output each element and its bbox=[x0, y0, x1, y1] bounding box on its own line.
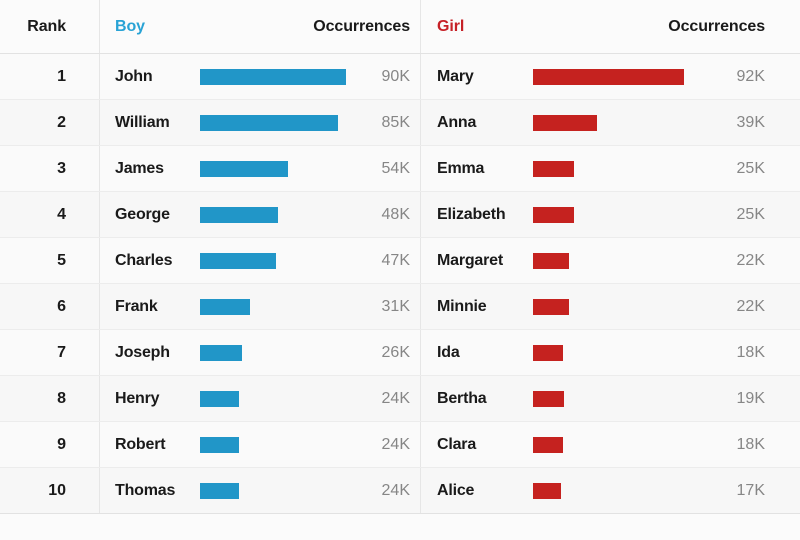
boy-name: Robert bbox=[115, 436, 165, 454]
girl-bar-cell bbox=[533, 330, 723, 375]
boy-name: Charles bbox=[115, 252, 172, 270]
boy-occurrences-cell: 24K bbox=[355, 482, 420, 500]
girl-occurrences-value: 25K bbox=[737, 160, 765, 177]
rank-cell: 4 bbox=[0, 206, 99, 224]
girl-name-cell: Ida bbox=[420, 330, 533, 375]
boy-bar-cell bbox=[200, 422, 355, 467]
girl-occurrences-value: 17K bbox=[737, 482, 765, 499]
boy-occurrences-value: 85K bbox=[382, 114, 410, 131]
rank-value: 9 bbox=[57, 436, 66, 453]
boy-bar-cell bbox=[200, 238, 355, 283]
boy-bar bbox=[200, 299, 250, 315]
girl-bar bbox=[533, 483, 561, 499]
column-header-rank: Rank bbox=[27, 18, 66, 35]
boy-occurrences-value: 31K bbox=[382, 298, 410, 315]
boy-bar bbox=[200, 69, 346, 85]
rank-value: 4 bbox=[57, 206, 66, 223]
girl-bar bbox=[533, 161, 574, 177]
boy-name-cell: Frank bbox=[99, 284, 200, 329]
boy-occurrences-cell: 54K bbox=[355, 160, 420, 178]
girl-name-cell: Minnie bbox=[420, 284, 533, 329]
table-row: 2William85KAnna39K bbox=[0, 100, 800, 146]
boy-bar bbox=[200, 483, 239, 499]
girl-occurrences-value: 18K bbox=[737, 344, 765, 361]
girl-name: Mary bbox=[437, 68, 474, 86]
girl-occurrences-value: 39K bbox=[737, 114, 765, 131]
column-header-boy-occurrences-cell: Occurrences bbox=[200, 18, 420, 36]
girl-occurrences-cell: 18K bbox=[723, 436, 800, 454]
boy-occurrences-value: 48K bbox=[382, 206, 410, 223]
boy-bar-cell bbox=[200, 468, 355, 513]
boy-occurrences-value: 90K bbox=[382, 68, 410, 85]
girl-occurrences-cell: 18K bbox=[723, 344, 800, 362]
boy-occurrences-cell: 85K bbox=[355, 114, 420, 132]
girl-name: Elizabeth bbox=[437, 206, 505, 224]
boy-name-cell: James bbox=[99, 146, 200, 191]
girl-name-cell: Anna bbox=[420, 100, 533, 145]
boy-bar-cell bbox=[200, 146, 355, 191]
rank-cell: 1 bbox=[0, 68, 99, 86]
girl-bar bbox=[533, 207, 574, 223]
boy-bar bbox=[200, 253, 276, 269]
table-row: 6Frank31KMinnie22K bbox=[0, 284, 800, 330]
girl-occurrences-value: 22K bbox=[737, 252, 765, 269]
table-row: 1John90KMary92K bbox=[0, 54, 800, 100]
boy-bar bbox=[200, 115, 338, 131]
girl-name: Anna bbox=[437, 114, 476, 132]
girl-name-cell: Mary bbox=[420, 54, 533, 99]
girl-name: Bertha bbox=[437, 390, 486, 408]
girl-name-cell: Elizabeth bbox=[420, 192, 533, 237]
boy-bar-cell bbox=[200, 330, 355, 375]
girl-occurrences-cell: 25K bbox=[723, 160, 800, 178]
rank-value: 3 bbox=[57, 160, 66, 177]
boy-occurrences-cell: 31K bbox=[355, 298, 420, 316]
girl-bar bbox=[533, 69, 684, 85]
boy-name: Henry bbox=[115, 390, 159, 408]
rank-value: 6 bbox=[57, 298, 66, 315]
table-row: 9Robert24KClara18K bbox=[0, 422, 800, 468]
girl-bar-cell bbox=[533, 284, 723, 329]
girl-occurrences-value: 92K bbox=[737, 68, 765, 85]
rank-cell: 2 bbox=[0, 114, 99, 132]
girl-bar bbox=[533, 115, 597, 131]
girl-occurrences-cell: 22K bbox=[723, 298, 800, 316]
boy-bar-cell bbox=[200, 54, 355, 99]
girl-bar bbox=[533, 391, 564, 407]
girl-occurrences-cell: 22K bbox=[723, 252, 800, 270]
table-row: 8Henry24KBertha19K bbox=[0, 376, 800, 422]
boy-name: William bbox=[115, 114, 169, 132]
girl-bar bbox=[533, 345, 563, 361]
girl-bar-cell bbox=[533, 422, 723, 467]
column-header-boy: Boy bbox=[115, 18, 145, 36]
rank-cell: 6 bbox=[0, 298, 99, 316]
girl-name-cell: Bertha bbox=[420, 376, 533, 421]
boy-bar bbox=[200, 161, 288, 177]
girl-name: Emma bbox=[437, 160, 484, 178]
girl-bar bbox=[533, 253, 569, 269]
rank-value: 1 bbox=[57, 68, 66, 85]
rank-value: 2 bbox=[57, 114, 66, 131]
table-body: 1John90KMary92K2William85KAnna39K3James5… bbox=[0, 54, 800, 514]
boy-occurrences-cell: 48K bbox=[355, 206, 420, 224]
boy-occurrences-value: 24K bbox=[382, 436, 410, 453]
table-row: 3James54KEmma25K bbox=[0, 146, 800, 192]
boy-occurrences-cell: 26K bbox=[355, 344, 420, 362]
boy-bar bbox=[200, 391, 239, 407]
boy-occurrences-cell: 24K bbox=[355, 390, 420, 408]
girl-name-cell: Clara bbox=[420, 422, 533, 467]
girl-occurrences-cell: 17K bbox=[723, 482, 800, 500]
girl-name: Ida bbox=[437, 344, 460, 362]
girl-bar-cell bbox=[533, 376, 723, 421]
girl-name-cell: Margaret bbox=[420, 238, 533, 283]
girl-bar bbox=[533, 437, 563, 453]
boy-bar-cell bbox=[200, 284, 355, 329]
column-header-girl-occurrences-cell: Occurrences bbox=[533, 18, 800, 36]
column-header-girl-cell: Girl bbox=[420, 0, 533, 53]
column-header-girl-occurrences: Occurrences bbox=[668, 18, 765, 36]
boy-name-cell: Charles bbox=[99, 238, 200, 283]
rank-value: 7 bbox=[57, 344, 66, 361]
boy-occurrences-value: 26K bbox=[382, 344, 410, 361]
boy-bar-cell bbox=[200, 100, 355, 145]
table-row: 5Charles47KMargaret22K bbox=[0, 238, 800, 284]
girl-name: Clara bbox=[437, 436, 476, 454]
boy-name: Frank bbox=[115, 298, 158, 316]
boy-name: George bbox=[115, 206, 170, 224]
boy-name-cell: George bbox=[99, 192, 200, 237]
boy-occurrences-value: 47K bbox=[382, 252, 410, 269]
boy-name-cell: Joseph bbox=[99, 330, 200, 375]
rank-value: 5 bbox=[57, 252, 66, 269]
girl-bar-cell bbox=[533, 146, 723, 191]
boy-bar-cell bbox=[200, 192, 355, 237]
boy-bar bbox=[200, 437, 239, 453]
boy-bar bbox=[200, 345, 242, 361]
rank-cell: 8 bbox=[0, 390, 99, 408]
rank-cell: 3 bbox=[0, 160, 99, 178]
girl-bar bbox=[533, 299, 569, 315]
girl-occurrences-value: 22K bbox=[737, 298, 765, 315]
girl-occurrences-cell: 25K bbox=[723, 206, 800, 224]
column-header-rank-cell: Rank bbox=[0, 18, 99, 36]
girl-occurrences-cell: 92K bbox=[723, 68, 800, 86]
girl-name: Margaret bbox=[437, 252, 503, 270]
table-row: 10Thomas24KAlice17K bbox=[0, 468, 800, 514]
boy-name: John bbox=[115, 68, 152, 86]
boy-bar-cell bbox=[200, 376, 355, 421]
girl-bar-cell bbox=[533, 100, 723, 145]
girl-name-cell: Emma bbox=[420, 146, 533, 191]
girl-occurrences-value: 19K bbox=[737, 390, 765, 407]
baby-names-ranking-table: Rank Boy Occurrences Girl Occurrences 1J… bbox=[0, 0, 800, 514]
boy-name: Thomas bbox=[115, 482, 175, 500]
girl-bar-cell bbox=[533, 192, 723, 237]
column-header-boy-cell: Boy bbox=[99, 0, 200, 53]
girl-bar-cell bbox=[533, 54, 723, 99]
table-row: 7Joseph26KIda18K bbox=[0, 330, 800, 376]
girl-name: Minnie bbox=[437, 298, 486, 316]
rank-cell: 7 bbox=[0, 344, 99, 362]
boy-name: Joseph bbox=[115, 344, 170, 362]
boy-name-cell: William bbox=[99, 100, 200, 145]
boy-name-cell: Henry bbox=[99, 376, 200, 421]
boy-occurrences-value: 54K bbox=[382, 160, 410, 177]
boy-occurrences-cell: 24K bbox=[355, 436, 420, 454]
boy-occurrences-cell: 47K bbox=[355, 252, 420, 270]
table-row: 4George48KElizabeth25K bbox=[0, 192, 800, 238]
column-header-boy-occurrences: Occurrences bbox=[313, 18, 410, 36]
rank-cell: 9 bbox=[0, 436, 99, 454]
rank-cell: 5 bbox=[0, 252, 99, 270]
girl-name: Alice bbox=[437, 482, 474, 500]
boy-name-cell: Thomas bbox=[99, 468, 200, 513]
boy-occurrences-value: 24K bbox=[382, 390, 410, 407]
boy-occurrences-cell: 90K bbox=[355, 68, 420, 86]
rank-value: 8 bbox=[57, 390, 66, 407]
rank-cell: 10 bbox=[0, 482, 99, 500]
boy-bar bbox=[200, 207, 278, 223]
girl-occurrences-cell: 39K bbox=[723, 114, 800, 132]
boy-name-cell: John bbox=[99, 54, 200, 99]
girl-bar-cell bbox=[533, 468, 723, 513]
boy-name: James bbox=[115, 160, 164, 178]
girl-bar-cell bbox=[533, 238, 723, 283]
girl-name-cell: Alice bbox=[420, 468, 533, 513]
column-header-girl: Girl bbox=[437, 18, 464, 36]
table-header-row: Rank Boy Occurrences Girl Occurrences bbox=[0, 0, 800, 54]
boy-name-cell: Robert bbox=[99, 422, 200, 467]
rank-value: 10 bbox=[48, 482, 66, 499]
girl-occurrences-value: 25K bbox=[737, 206, 765, 223]
boy-occurrences-value: 24K bbox=[382, 482, 410, 499]
girl-occurrences-cell: 19K bbox=[723, 390, 800, 408]
girl-occurrences-value: 18K bbox=[737, 436, 765, 453]
